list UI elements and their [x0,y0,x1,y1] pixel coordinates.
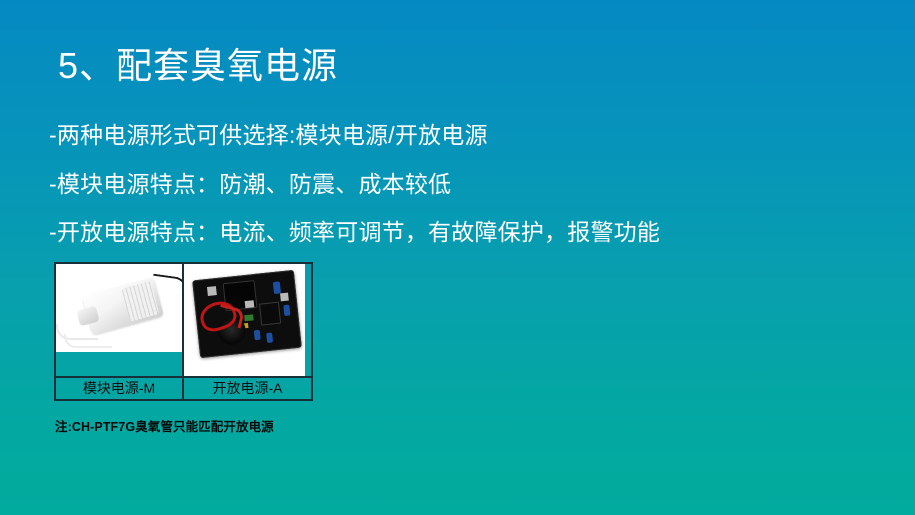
pcb-board-shape [192,270,302,358]
bullet-line-3: -开放电源特点：电流、频率可调节，有故障保护，报警功能 [49,217,660,247]
module-power-supply-photo [56,264,182,352]
bullet-line-2: -模块电源特点：防潮、防震、成本较低 [49,169,451,199]
product-comparison-table: 模块电源-M 开放电源-A [54,262,313,401]
component-silver-1-icon [207,286,217,296]
bullet-line-1: -两种电源形式可供选择:模块电源/开放电源 [49,120,488,150]
table-caption-open-frame: 开放电源-A [184,378,311,399]
table-cell-module-image [56,264,184,376]
component-silver-3-icon [245,300,255,308]
capacitor-1-icon [273,281,281,294]
page-title: 5、配套臭氧电源 [58,44,338,88]
table-image-row [56,264,311,376]
slide-canvas: 5、配套臭氧电源 -两种电源形式可供选择:模块电源/开放电源 -模块电源特点：防… [0,0,915,515]
component-silver-2-icon [280,293,289,302]
module-input-wire-2-icon [64,334,112,348]
open-frame-power-supply-photo [184,264,305,376]
table-caption-row: 模块电源-M 开放电源-A [56,376,311,399]
heatsink-component-icon [259,302,281,326]
footnote-text: 注:CH-PTF7G臭氧管只能匹配开放电源 [55,419,274,435]
table-cell-open-frame-image [184,264,311,376]
table-caption-module: 模块电源-M [56,378,184,399]
capacitor-2-icon [283,305,290,317]
capacitor-4-icon [266,332,273,343]
capacitor-3-icon [254,330,261,341]
component-green-icon [244,314,254,321]
module-fins-texture [121,281,159,322]
